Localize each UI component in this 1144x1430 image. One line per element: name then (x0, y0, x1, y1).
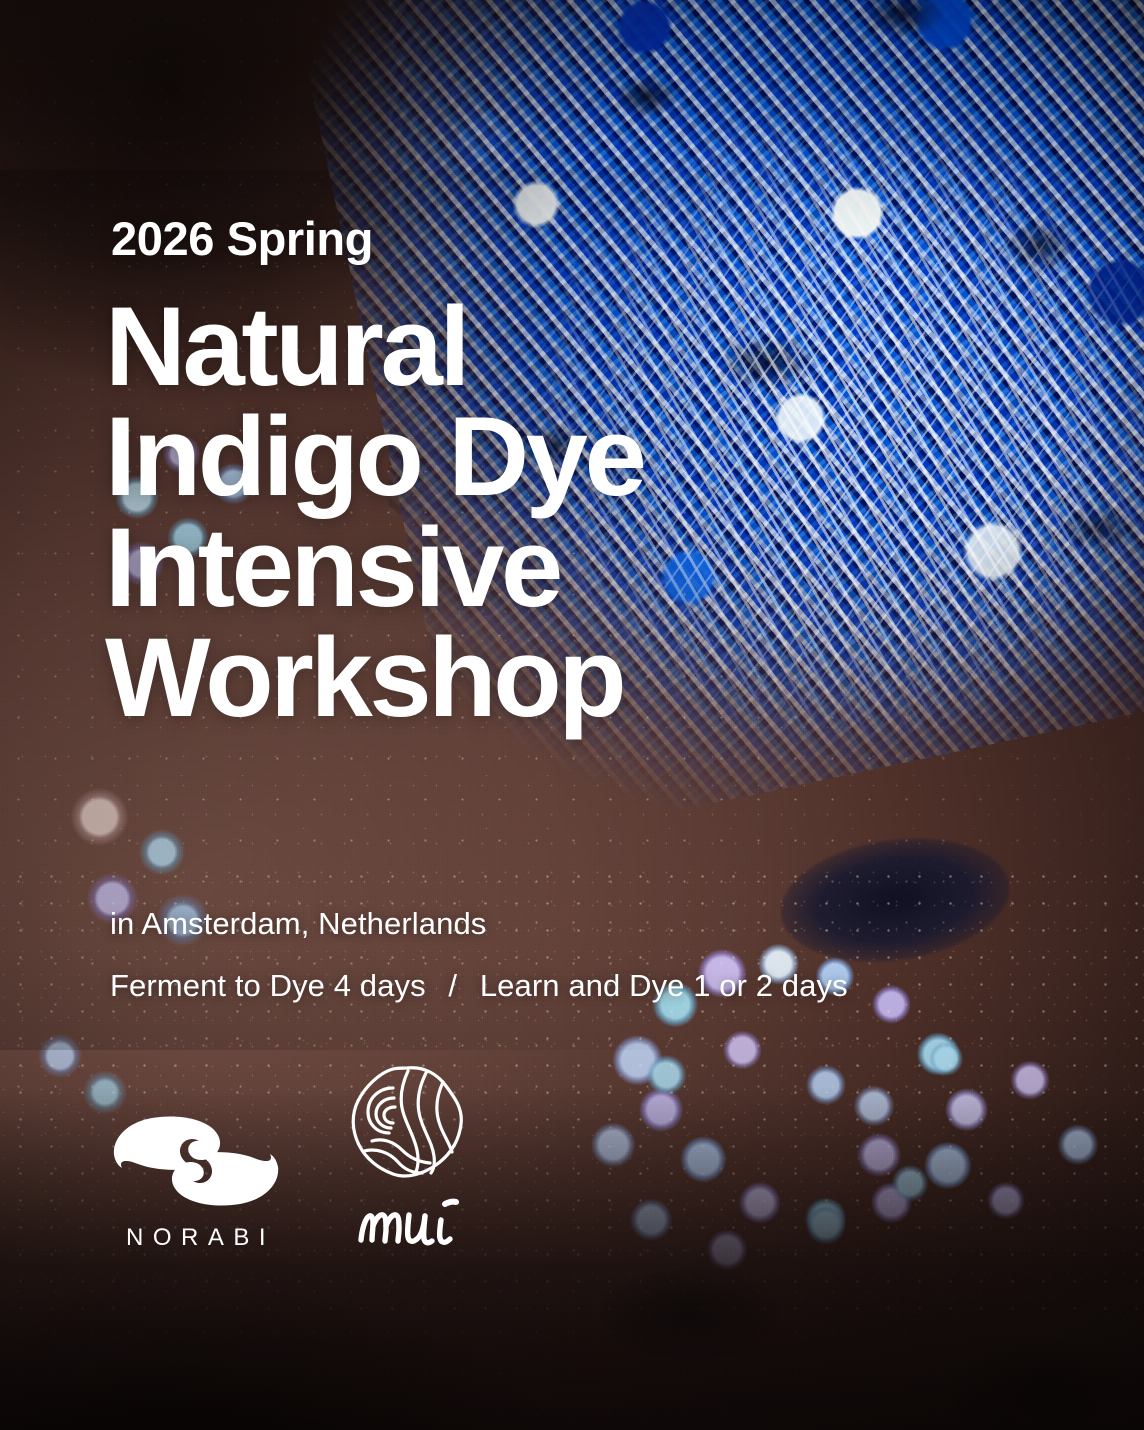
pebble-contour-icon (346, 1062, 468, 1184)
program-options-text: Ferment to Dye 4 days / Learn and Dye 1 … (110, 968, 848, 1004)
headline-line-3: Intensive (105, 513, 643, 623)
logo-lockup-row: NORABI (108, 1062, 468, 1250)
poster-content: 2026 Spring Natural Indigo Dye Intensive… (0, 0, 1144, 1430)
page-title: Natural Indigo Dye Intensive Workshop (105, 292, 643, 733)
program-option-b: Learn and Dye 1 or 2 days (480, 968, 848, 1003)
headline-line-4: Workshop (105, 623, 643, 733)
logo-wordmark-mui (353, 1196, 461, 1250)
season-kicker: 2026 Spring (111, 215, 373, 262)
mui-script-lettering (353, 1196, 461, 1250)
program-separator: / (434, 968, 471, 1003)
wave-swirl-icon (108, 1108, 284, 1214)
logo-wordmark-norabi: NORABI (117, 1226, 275, 1250)
logo-mui (346, 1062, 468, 1250)
headline-line-1: Natural (105, 292, 643, 402)
poster-canvas: 2026 Spring Natural Indigo Dye Intensive… (0, 0, 1144, 1430)
program-option-a: Ferment to Dye 4 days (110, 968, 426, 1003)
logo-norabi: NORABI (108, 1108, 284, 1250)
headline-line-2: Indigo Dye (105, 402, 643, 512)
location-text: in Amsterdam, Netherlands (110, 906, 486, 942)
